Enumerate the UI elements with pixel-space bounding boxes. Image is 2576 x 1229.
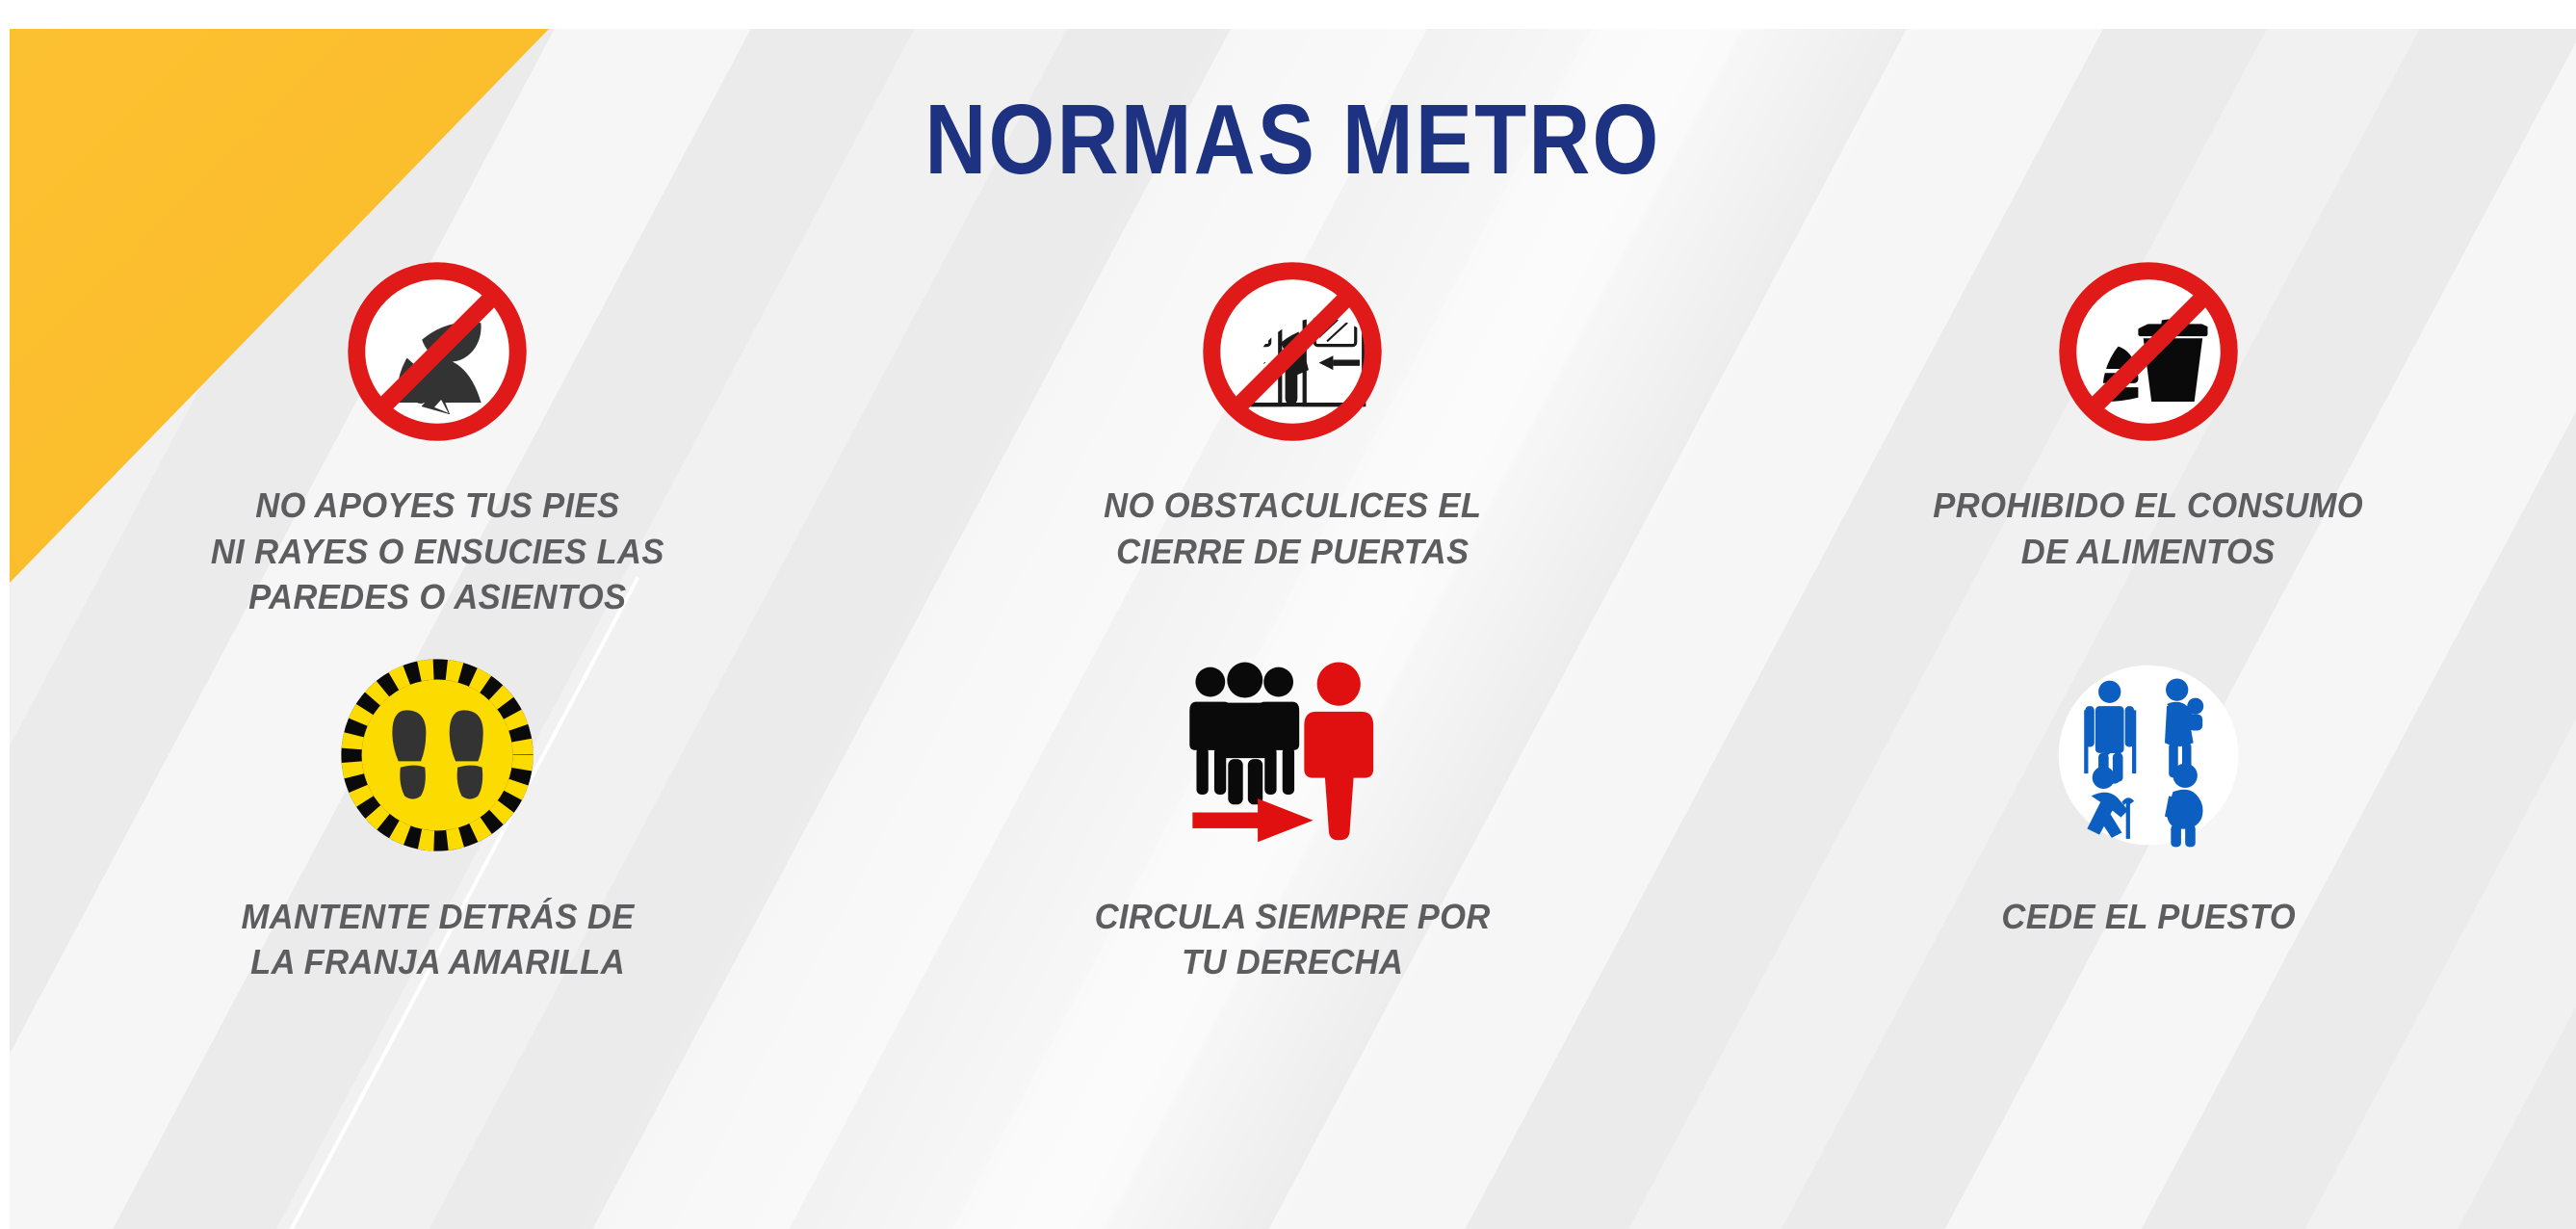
no-feet-graffiti-icon [331, 246, 543, 458]
no-blocking-doors-icon [1186, 246, 1398, 458]
rules-grid: NO APOYES TUS PIES NI RAYES O ENSUCIES L… [10, 236, 2576, 985]
rule-caption: CIRCULA SIEMPRE POR TU DERECHA [1095, 894, 1491, 985]
rule-card-no-feet-no-graffiti: NO APOYES TUS PIES NI RAYES O ENSUCIES L… [10, 236, 865, 620]
poster-canvas: NORMAS METRO [10, 29, 2576, 1229]
rule-caption: MANTENTE DETRÁS DE LA FRANJA AMARILLA [241, 894, 634, 985]
rule-card-stay-behind-yellow-line: MANTENTE DETRÁS DE LA FRANJA AMARILLA [10, 640, 865, 985]
metro-rules-poster: NORMAS METRO [0, 0, 2576, 1229]
priority-seating-icon [2043, 649, 2254, 861]
rule-caption: CEDE EL PUESTO [2001, 894, 2296, 940]
page-title: NORMAS METRO [10, 82, 2576, 197]
footprints-yellow-circle-icon [331, 649, 543, 861]
rule-card-give-up-your-seat: CEDE EL PUESTO [1721, 640, 2576, 985]
rule-caption: PROHIBIDO EL CONSUMO DE ALIMENTOS [1933, 483, 2363, 574]
rule-card-no-food: PROHIBIDO EL CONSUMO DE ALIMENTOS [1721, 236, 2576, 620]
rule-caption: NO OBSTACULICES EL CIERRE DE PUERTAS [1104, 483, 1481, 574]
rule-caption: NO APOYES TUS PIES NI RAYES O ENSUCIES L… [211, 483, 664, 620]
walk-right-arrow-icon [1186, 649, 1398, 861]
rule-card-walk-on-the-right: CIRCULA SIEMPRE POR TU DERECHA [865, 640, 1720, 985]
rule-card-no-block-doors: NO OBSTACULICES EL CIERRE DE PUERTAS [865, 236, 1720, 620]
no-food-drink-icon [2043, 246, 2254, 458]
